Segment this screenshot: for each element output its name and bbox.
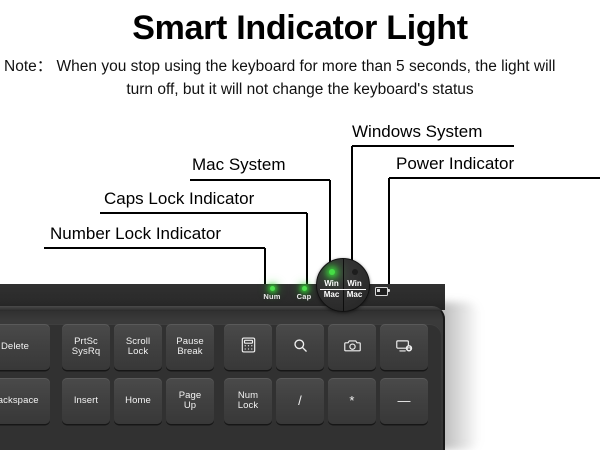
cap-led (302, 286, 307, 291)
key-label-line: — (397, 394, 410, 408)
key-pause-break[interactable]: PauseBreak (166, 324, 214, 370)
indicator-magnifier: Win Mac Win Mac (316, 258, 370, 312)
key-divide[interactable]: / (276, 378, 324, 424)
key-page-up[interactable]: PageUp (166, 378, 214, 424)
magnified-win-mac-right: Win Mac (343, 269, 366, 299)
key-insert[interactable]: Insert (62, 378, 110, 424)
key-label: * (349, 394, 354, 408)
key-label: / (298, 394, 302, 408)
indicator-num: Num (255, 286, 289, 301)
key-label: Insert (74, 396, 98, 407)
keyboard-top-edge (0, 306, 445, 311)
key-label-line: Home (125, 396, 151, 407)
key-label: — (397, 394, 410, 408)
key-num-lock[interactable]: NumLock (224, 378, 272, 424)
cap-label: Cap (287, 292, 321, 301)
key-delete[interactable]: Delete (0, 324, 50, 370)
win-mac-right-bottom-label: Mac (343, 290, 366, 300)
key-label-line: Up (179, 401, 202, 412)
win-mac-left-led (329, 269, 335, 275)
key-label-line: * (349, 394, 354, 408)
key-label: Home (125, 396, 151, 407)
win-mac-left-top-label: Win (320, 279, 343, 290)
key-label-line: Lock (126, 347, 150, 358)
battery-icon (375, 287, 388, 296)
key-minus[interactable]: — (380, 378, 428, 424)
win-mac-right-top-label: Win (343, 279, 366, 290)
num-label: Num (255, 292, 289, 301)
key-lock-screen[interactable] (380, 324, 428, 370)
key-scroll-lock[interactable]: ScrollLock (114, 324, 162, 370)
win-mac-right-led (352, 269, 358, 275)
calculator-icon (241, 337, 256, 357)
key-label-line: Insert (74, 396, 98, 407)
key-label-line: Delete (1, 342, 29, 353)
key-label: PrtScSysRq (72, 337, 100, 358)
key-label-line: Backspace (0, 396, 39, 407)
magnified-win-mac-left: Win Mac (320, 269, 343, 299)
key-screenshot[interactable] (328, 324, 376, 370)
key-multiply[interactable]: * (328, 378, 376, 424)
win-mac-left-bottom-label: Mac (320, 290, 343, 300)
key-label-line: Break (176, 347, 203, 358)
key-label: ScrollLock (126, 337, 150, 358)
key-backspace[interactable]: Backspace (0, 378, 50, 424)
key-label: Delete (1, 342, 29, 353)
key-prtsc[interactable]: PrtScSysRq (62, 324, 110, 370)
key-home[interactable]: Home (114, 378, 162, 424)
key-calculator[interactable] (224, 324, 272, 370)
illustration-canvas: Smart Indicator Light Note： When you sto… (0, 0, 600, 450)
key-label-line: SysRq (72, 347, 100, 358)
key-label-line: / (298, 394, 302, 408)
key-search[interactable] (276, 324, 324, 370)
key-label: PauseBreak (176, 337, 203, 358)
lock-screen-icon (396, 338, 413, 357)
key-label: NumLock (238, 391, 258, 412)
key-label-line: Lock (238, 401, 258, 412)
num-led (270, 286, 275, 291)
search-icon (293, 338, 308, 357)
camera-icon (344, 338, 361, 357)
keyboard-body: DeletePrtScSysRqScrollLockPauseBreakBack… (0, 306, 445, 450)
key-label: PageUp (179, 391, 202, 412)
key-label: Backspace (0, 396, 39, 407)
